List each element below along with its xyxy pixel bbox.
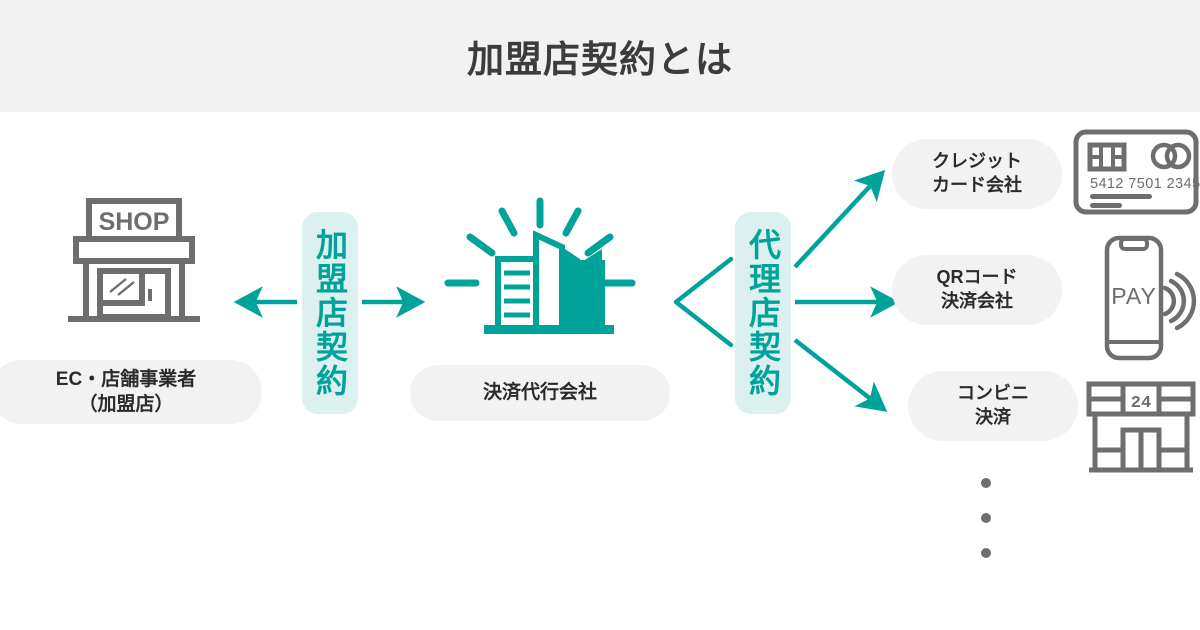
partner-credit-card-line2: カード会社: [932, 174, 1022, 198]
shop-icon: SHOP: [62, 197, 207, 329]
page-title: 加盟店契約とは: [467, 29, 733, 83]
partner-credit-card[interactable]: クレジット カード会社: [892, 139, 1062, 209]
vertical-ellipsis: [981, 478, 993, 558]
actor-merchant-label-line1: EC・店舗事業者: [56, 367, 196, 392]
partner-convenience-store-line1: コンビニ: [957, 382, 1029, 406]
partner-convenience-store-line2: 決済: [957, 406, 1029, 430]
diagram-canvas: SHOP EC・店舗事業者 （加盟店） 加盟店契約: [0, 112, 1200, 630]
badge-merchant-contract[interactable]: 加盟店契約: [302, 212, 358, 414]
office-building-icon: [440, 197, 640, 345]
partner-credit-card-line1: クレジット: [932, 150, 1022, 174]
nfc-waves: [1165, 274, 1194, 328]
arrow-to-convenience-store: [795, 340, 872, 400]
badge-merchant-contract-label: 加盟店契約: [307, 228, 353, 398]
actor-psp[interactable]: 決済代行会社: [410, 365, 670, 421]
ellipsis-dot: [981, 478, 991, 488]
partner-qr-payment-line2: 決済会社: [937, 290, 1018, 314]
smartphone-pay-icon: PAY: [1103, 234, 1181, 362]
ellipsis-dot: [981, 548, 991, 558]
partner-convenience-store[interactable]: コンビニ 決済: [908, 371, 1078, 441]
page-header: 加盟店契約とは: [0, 0, 1200, 112]
credit-card-number: 5412 7501 2345: [1090, 176, 1200, 192]
phone-pay-text: PAY: [1111, 283, 1157, 309]
partner-qr-payment-line1: QRコード: [937, 266, 1018, 290]
actor-psp-label: 決済代行会社: [483, 380, 597, 405]
credit-card-icon: 5412 7501 2345: [1072, 128, 1200, 216]
arrow-agency-fanin: [676, 259, 731, 345]
badge-agency-contract[interactable]: 代理店契約: [735, 212, 791, 414]
actor-merchant-label-line2: （加盟店）: [56, 392, 196, 417]
cvs-24h-text: 24: [1131, 394, 1151, 413]
partner-qr-payment[interactable]: QRコード 決済会社: [892, 255, 1062, 325]
convenience-store-icon: 24: [1085, 380, 1197, 474]
actor-merchant[interactable]: EC・店舗事業者 （加盟店）: [0, 360, 262, 424]
badge-agency-contract-label: 代理店契約: [740, 228, 786, 398]
ellipsis-dot: [981, 513, 991, 523]
shop-sign-text: SHOP: [99, 208, 170, 236]
arrow-to-credit-card: [795, 184, 872, 267]
